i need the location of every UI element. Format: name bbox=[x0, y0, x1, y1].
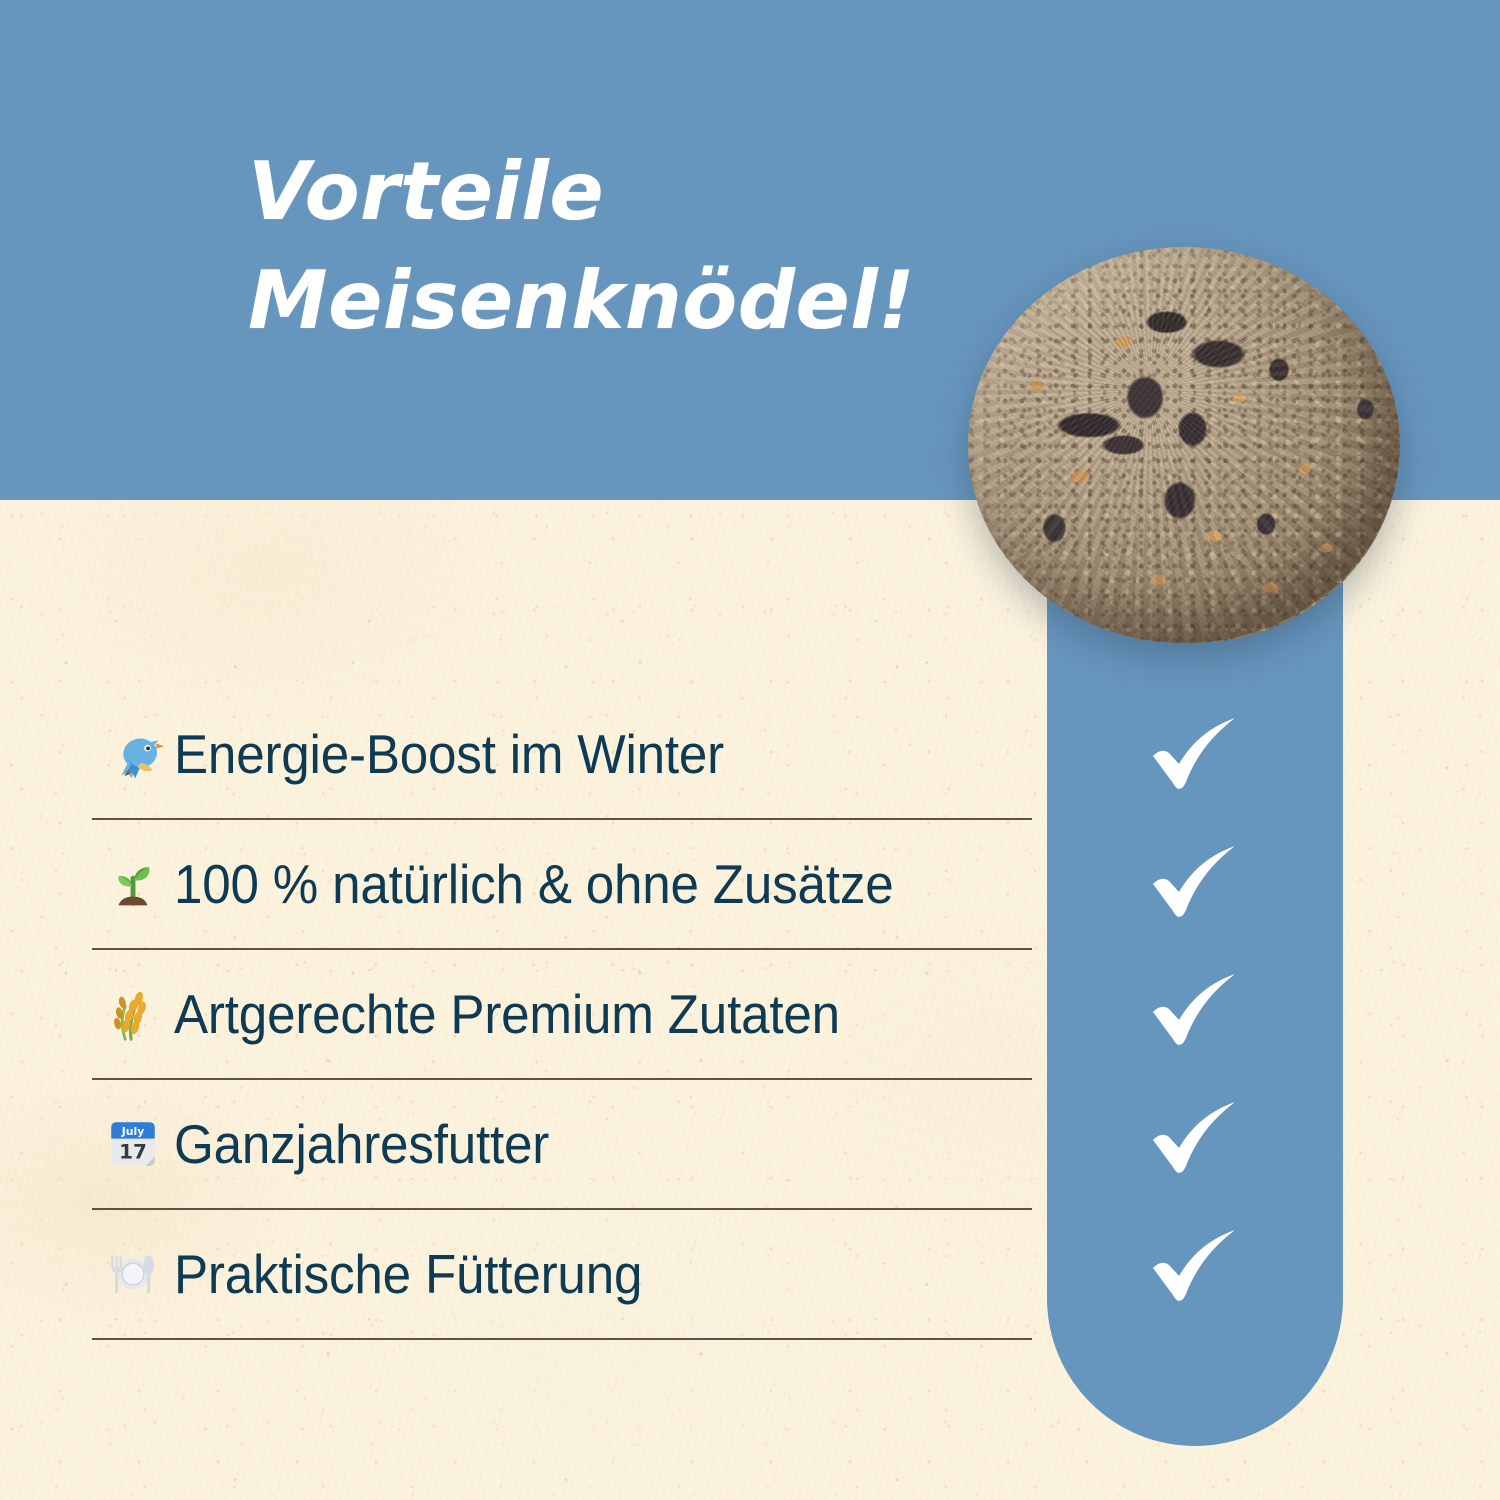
benefit-row-fuetterung: Praktische Fütterung bbox=[92, 1210, 1032, 1340]
check-icon bbox=[1147, 1098, 1243, 1178]
benefit-label: Ganzjahresfutter bbox=[174, 1112, 549, 1176]
check-row-ganzjahres bbox=[1047, 1074, 1343, 1202]
check-row-zutaten bbox=[1047, 946, 1343, 1074]
fatball-shading bbox=[968, 247, 1400, 643]
poster-canvas: Vorteile Meisenknödel! Energie- bbox=[0, 0, 1500, 1500]
calendar-icon: July 17 bbox=[92, 1115, 174, 1173]
checkmark-list bbox=[1047, 690, 1343, 1330]
fatball-body bbox=[968, 247, 1400, 643]
benefits-list: Energie-Boost im Winter 100 % natürlich … bbox=[92, 690, 1032, 1340]
benefit-label: Praktische Fütterung bbox=[174, 1242, 642, 1306]
calendar-day-label: 17 bbox=[119, 1141, 147, 1164]
grain-icon bbox=[92, 983, 174, 1045]
check-row-energie bbox=[1047, 690, 1343, 818]
benefit-row-energie: Energie-Boost im Winter bbox=[92, 690, 1032, 820]
page-title: Vorteile Meisenknödel! bbox=[248, 138, 948, 356]
benefit-label: Energie-Boost im Winter bbox=[174, 722, 724, 786]
check-row-fuetterung bbox=[1047, 1202, 1343, 1330]
benefit-label: Artgerechte Premium Zutaten bbox=[174, 982, 840, 1046]
check-icon bbox=[1147, 714, 1243, 794]
check-row-natuerlich bbox=[1047, 818, 1343, 946]
cutlery-icon bbox=[92, 1245, 174, 1303]
bird-icon bbox=[92, 723, 174, 785]
benefit-row-ganzjahres: July 17 Ganzjahresfutter bbox=[92, 1080, 1032, 1210]
benefit-row-zutaten: Artgerechte Premium Zutaten bbox=[92, 950, 1032, 1080]
product-fatball-image bbox=[968, 247, 1400, 643]
check-icon bbox=[1147, 970, 1243, 1050]
seedling-icon bbox=[92, 853, 174, 915]
check-icon bbox=[1147, 1226, 1243, 1306]
page-title-line-2: Meisenknödel! bbox=[248, 247, 948, 356]
benefit-label: 100 % natürlich & ohne Zusätze bbox=[174, 852, 894, 916]
check-icon bbox=[1147, 842, 1243, 922]
calendar-month-label: July bbox=[121, 1125, 145, 1138]
page-title-line-1: Vorteile bbox=[248, 138, 948, 247]
benefit-row-natuerlich: 100 % natürlich & ohne Zusätze bbox=[92, 820, 1032, 950]
